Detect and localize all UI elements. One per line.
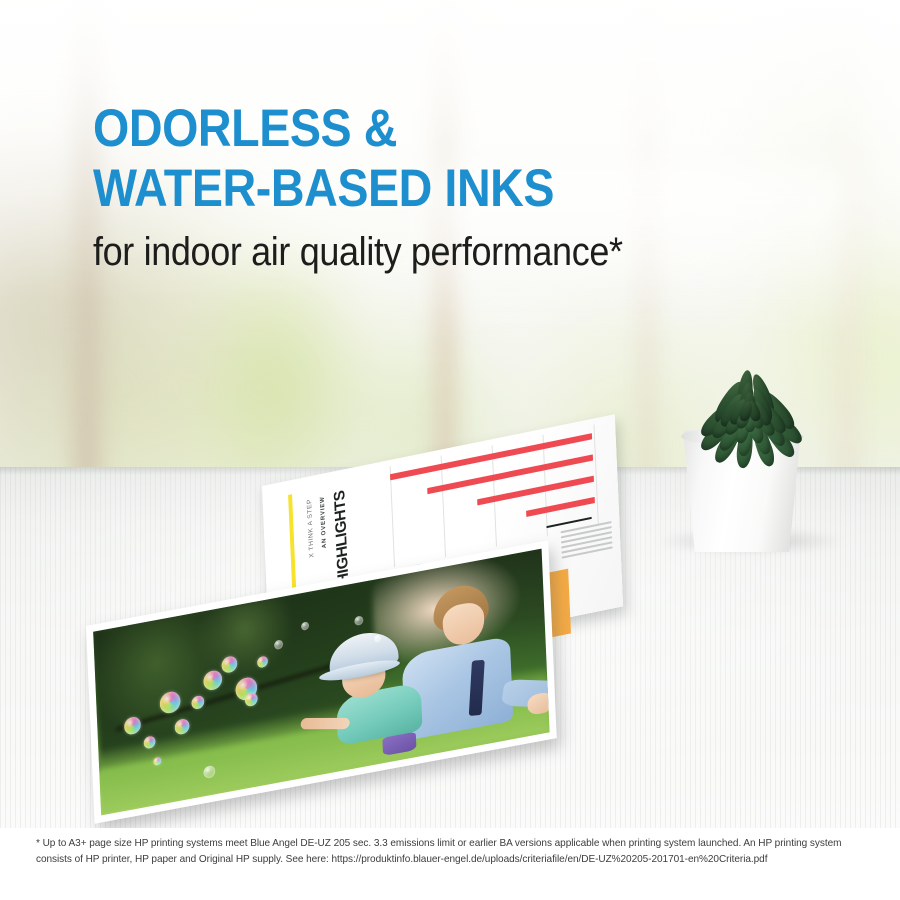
chart-bar — [427, 454, 593, 493]
footer-band: * Up to A3+ page size HP printing system… — [0, 828, 900, 900]
headline-line-1: ODORLESS & — [93, 104, 762, 155]
footnote-line-1: * Up to A3+ page size HP printing system… — [36, 838, 695, 849]
brochure-kicker: AN OVERVIEW — [320, 495, 328, 548]
headline-block: ODORLESS & WATER-BASED INKS for indoor a… — [93, 104, 853, 272]
chart-gridline — [390, 466, 395, 567]
headline-line-2: WATER-BASED INKS — [93, 164, 762, 215]
chart-gridline — [593, 424, 598, 525]
child-arm — [300, 718, 350, 729]
poster-canvas: X THINK A STEP AN OVERVIEW PROJECT HIGHL… — [0, 0, 900, 900]
headline-subtitle: for indoor air quality performance* — [93, 232, 777, 272]
chart-bar — [526, 497, 595, 517]
chart-gridline — [441, 456, 446, 557]
legal-footnote: * Up to A3+ page size HP printing system… — [36, 836, 857, 867]
brochure-eyebrow: X THINK A STEP — [306, 498, 315, 558]
footnote-url[interactable]: https://produktinfo.blauer-engel.de/uplo… — [332, 854, 768, 865]
